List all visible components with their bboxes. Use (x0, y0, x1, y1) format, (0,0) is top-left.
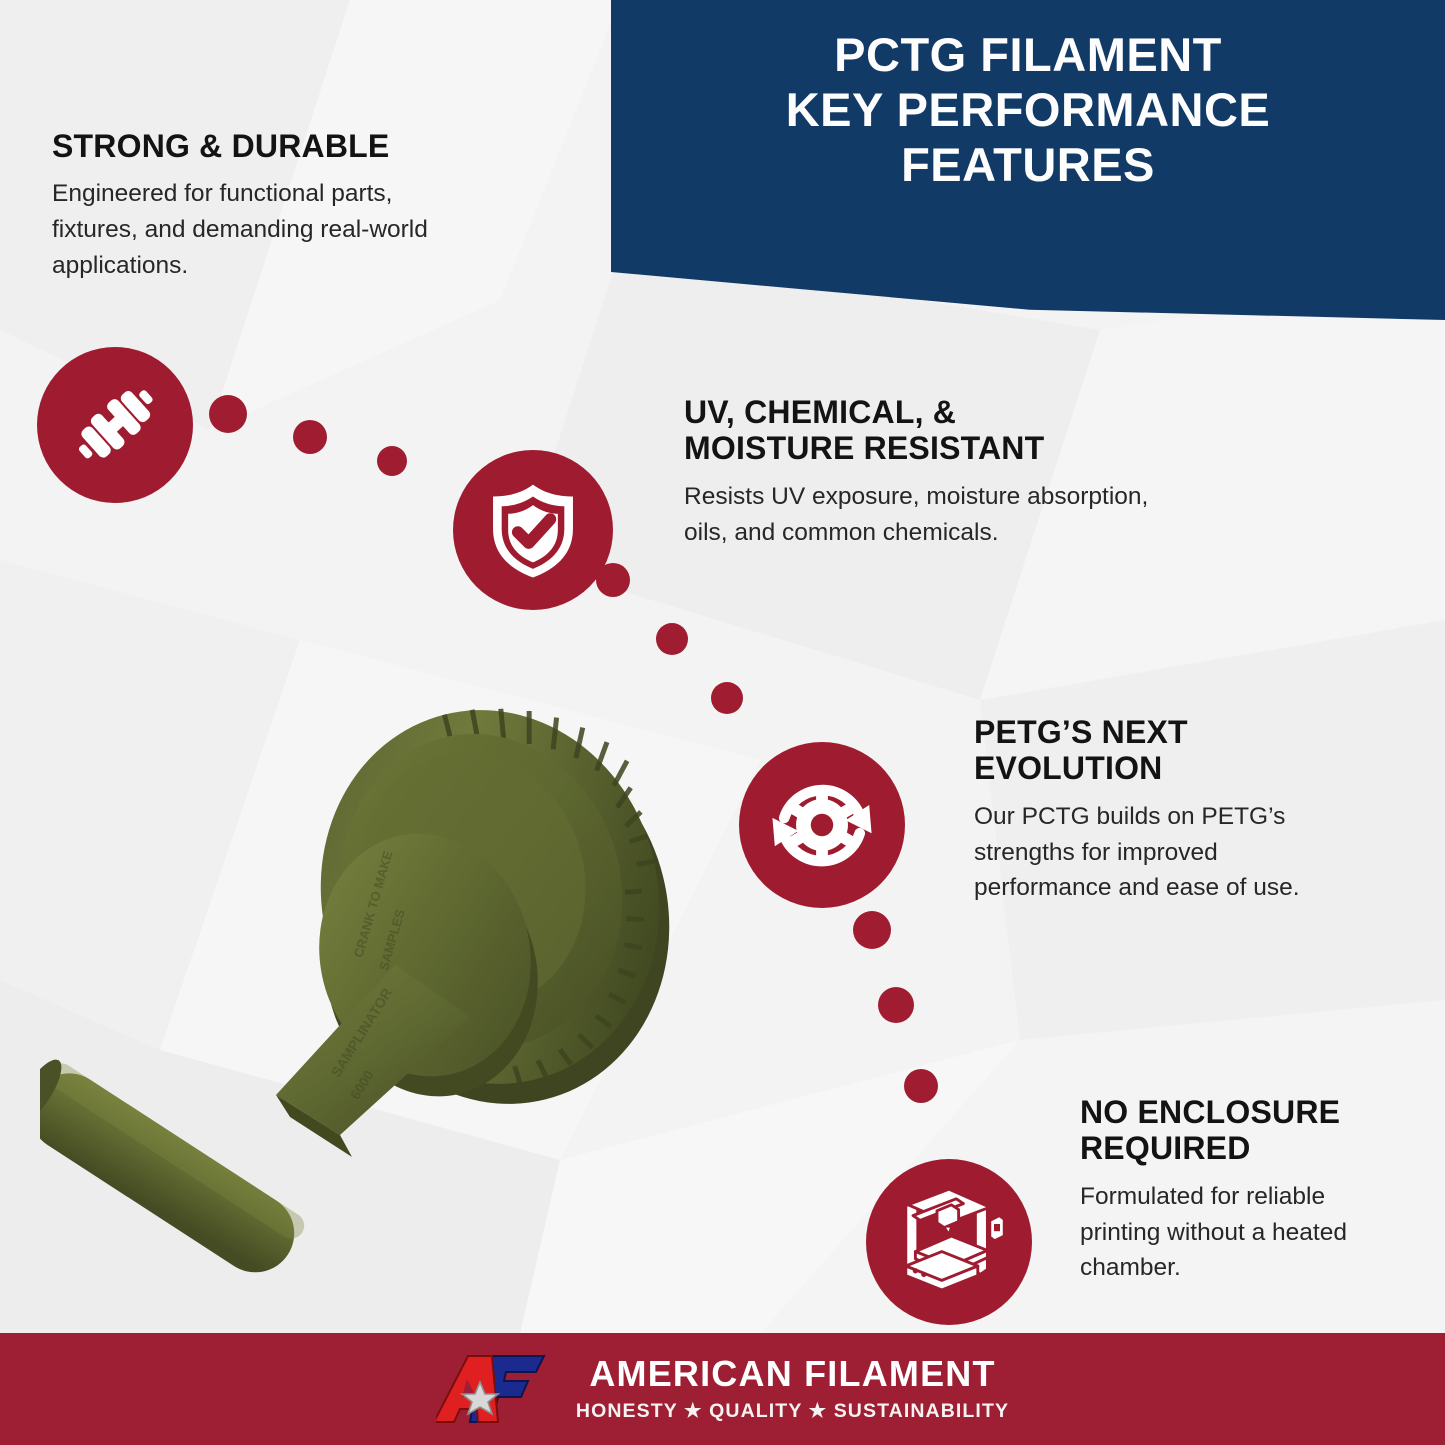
feature-title-line: STRONG & DURABLE (52, 128, 389, 164)
connector-dot (711, 682, 743, 714)
connector-dot (853, 911, 891, 949)
footer-tagline: HONESTY ★ QUALITY ★ SUSTAINABILITY (576, 1399, 1009, 1423)
feature-strong-durable: STRONG & DURABLE Engineered for function… (52, 128, 472, 284)
footer-bar: AMERICAN FILAMENT HONESTY ★ QUALITY ★ SU… (0, 1333, 1445, 1445)
shield-check-icon (453, 450, 613, 610)
feature-body: Formulated for reliable printing without… (1080, 1179, 1410, 1286)
feature-title-line: PETG’S NEXT (974, 714, 1304, 750)
feature-title: PETG’S NEXT EVOLUTION (974, 714, 1304, 787)
connector-dot (293, 420, 327, 454)
footer-brand-name: AMERICAN FILAMENT (589, 1356, 995, 1392)
3d-printer-icon (866, 1159, 1032, 1325)
feature-title: UV, CHEMICAL, & MOISTURE RESISTANT (684, 394, 1154, 467)
title-line-2: KEY PERFORMANCE (698, 83, 1358, 138)
gear-cycle-icon (739, 742, 905, 908)
feature-title-line: EVOLUTION (974, 750, 1304, 786)
american-filament-logo (436, 1350, 554, 1428)
product-photo: CRANK TO MAKE SAMPLES SAMPLINATOR 6000 (40, 665, 710, 1275)
page-title: PCTG FILAMENT KEY PERFORMANCE FEATURES (698, 28, 1358, 193)
dumbbell-icon (37, 347, 193, 503)
connector-dot (209, 395, 247, 433)
infographic-canvas: PCTG FILAMENT KEY PERFORMANCE FEATURES (0, 0, 1445, 1445)
feature-body: Resists UV exposure, moisture absorption… (684, 479, 1154, 551)
connector-dot (656, 623, 688, 655)
feature-title-line: REQUIRED (1080, 1130, 1410, 1166)
feature-title-line: NO ENCLOSURE (1080, 1094, 1410, 1130)
feature-body: Our PCTG builds on PETG’s strengths for … (974, 799, 1304, 906)
feature-title-line: MOISTURE RESISTANT (684, 430, 1154, 466)
connector-dot (377, 446, 407, 476)
feature-body: Engineered for functional parts, fixture… (52, 176, 472, 283)
header-banner: PCTG FILAMENT KEY PERFORMANCE FEATURES (611, 0, 1445, 320)
feature-title: STRONG & DURABLE (52, 128, 472, 164)
feature-uv-chemical-moisture: UV, CHEMICAL, & MOISTURE RESISTANT Resis… (684, 394, 1154, 550)
connector-dot (904, 1069, 938, 1103)
title-line-3: FEATURES (698, 138, 1358, 193)
feature-no-enclosure-required: NO ENCLOSURE REQUIRED Formulated for rel… (1080, 1094, 1410, 1286)
connector-dot (878, 987, 914, 1023)
feature-petgs-next-evolution: PETG’S NEXT EVOLUTION Our PCTG builds on… (974, 714, 1304, 906)
feature-title-line: UV, CHEMICAL, & (684, 394, 1154, 430)
footer-brand-text: AMERICAN FILAMENT HONESTY ★ QUALITY ★ SU… (576, 1356, 1009, 1423)
title-line-1: PCTG FILAMENT (698, 28, 1358, 83)
feature-title: NO ENCLOSURE REQUIRED (1080, 1094, 1410, 1167)
